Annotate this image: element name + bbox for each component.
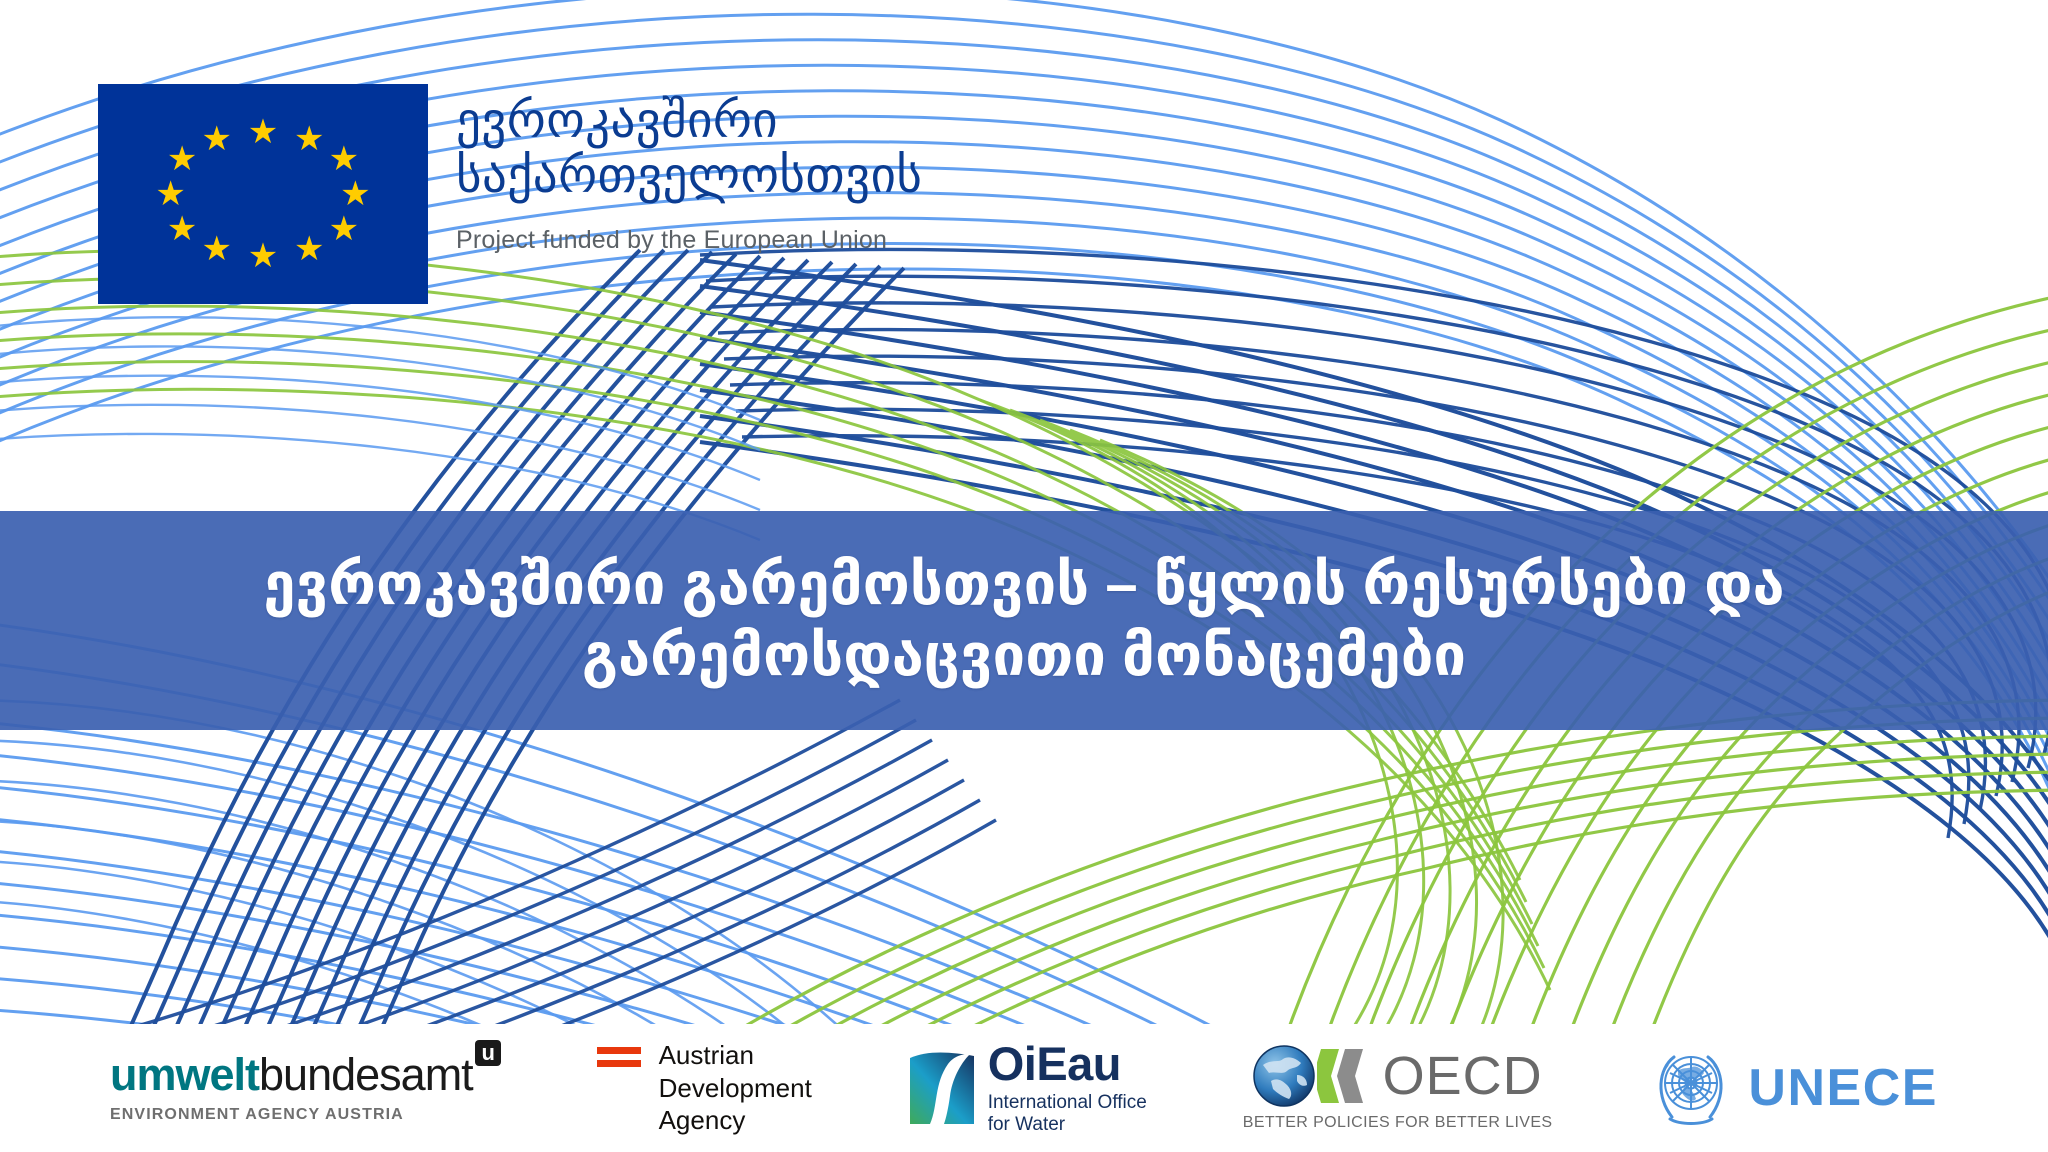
umweltbundesamt-superscript-icon: u [475,1040,501,1066]
eu-funding-note: Project funded by the European Union [456,226,922,255]
eu-title-line2: საქართველოსთვის [456,149,922,204]
logo-oecd: OECD BETTER POLICIES FOR BETTER LIVES [1243,1045,1553,1132]
logo-austrian-development-agency: Austrian Development Agency [597,1039,812,1137]
logo-unece: UNECE [1648,1045,1938,1131]
oecd-tagline: BETTER POLICIES FOR BETTER LIVES [1243,1114,1553,1132]
eu-title-line1: ევროკავშირი [456,94,922,149]
unece-name: UNECE [1748,1062,1938,1114]
umweltbundesamt-wordmark: umweltbundesamtu [110,1052,501,1097]
eu-flag-icon: ★ ★ ★ ★ ★ ★ ★ ★ ★ ★ ★ ★ [98,84,428,304]
oieau-subtitle-line1: International Office [988,1092,1147,1114]
un-emblem-icon [1648,1045,1734,1131]
oecd-mark-row: OECD [1253,1045,1543,1107]
logo-umweltbundesamt: umweltbundesamtu ENVIRONMENT AGENCY AUST… [110,1052,501,1124]
umweltbundesamt-name-part2: bundesamt [259,1049,473,1100]
eu-logo: ★ ★ ★ ★ ★ ★ ★ ★ ★ ★ ★ ★ ევროკავშირი საქა… [98,84,922,304]
ada-wordmark: Austrian Development Agency [659,1039,812,1137]
oieau-wordmark: OiEau International Office for Water [988,1040,1147,1137]
title-banner: ევროკავშირი გარემოსთვის – წყლის რესურსებ… [0,511,2048,730]
oieau-water-icon [908,1050,976,1126]
logo-oieau: OiEau International Office for Water [908,1040,1147,1137]
ada-line1: Austrian [659,1039,812,1072]
oieau-subtitle-line2: for Water [988,1114,1147,1136]
partner-logos-footer: umweltbundesamtu ENVIRONMENT AGENCY AUST… [0,1024,2048,1152]
oieau-name: OiEau [988,1040,1147,1087]
globe-icon [1253,1045,1315,1107]
ada-line2: Development [659,1072,812,1105]
slide-title-line2: გარემოსდაცვითი მონაცემები [582,621,1466,692]
ada-line3: Agency [659,1104,812,1137]
oecd-name: OECD [1383,1049,1543,1103]
eu-flag-stars: ★ ★ ★ ★ ★ ★ ★ ★ ★ ★ ★ ★ [98,84,428,304]
umweltbundesamt-name-part1: umwelt [110,1049,259,1100]
eu-logo-text: ევროკავშირი საქართველოსთვის Project fund… [456,84,922,255]
umweltbundesamt-tagline: ENVIRONMENT AGENCY AUSTRIA [110,1106,404,1124]
austria-flag-icon [597,1047,641,1067]
slide-title-line1: ევროკავშირი გარემოსთვის – წყლის რესურსებ… [263,550,1784,621]
presentation-slide: ★ ★ ★ ★ ★ ★ ★ ★ ★ ★ ★ ★ ევროკავშირი საქა… [0,0,2048,1152]
oecd-chevrons-icon [1317,1047,1379,1105]
